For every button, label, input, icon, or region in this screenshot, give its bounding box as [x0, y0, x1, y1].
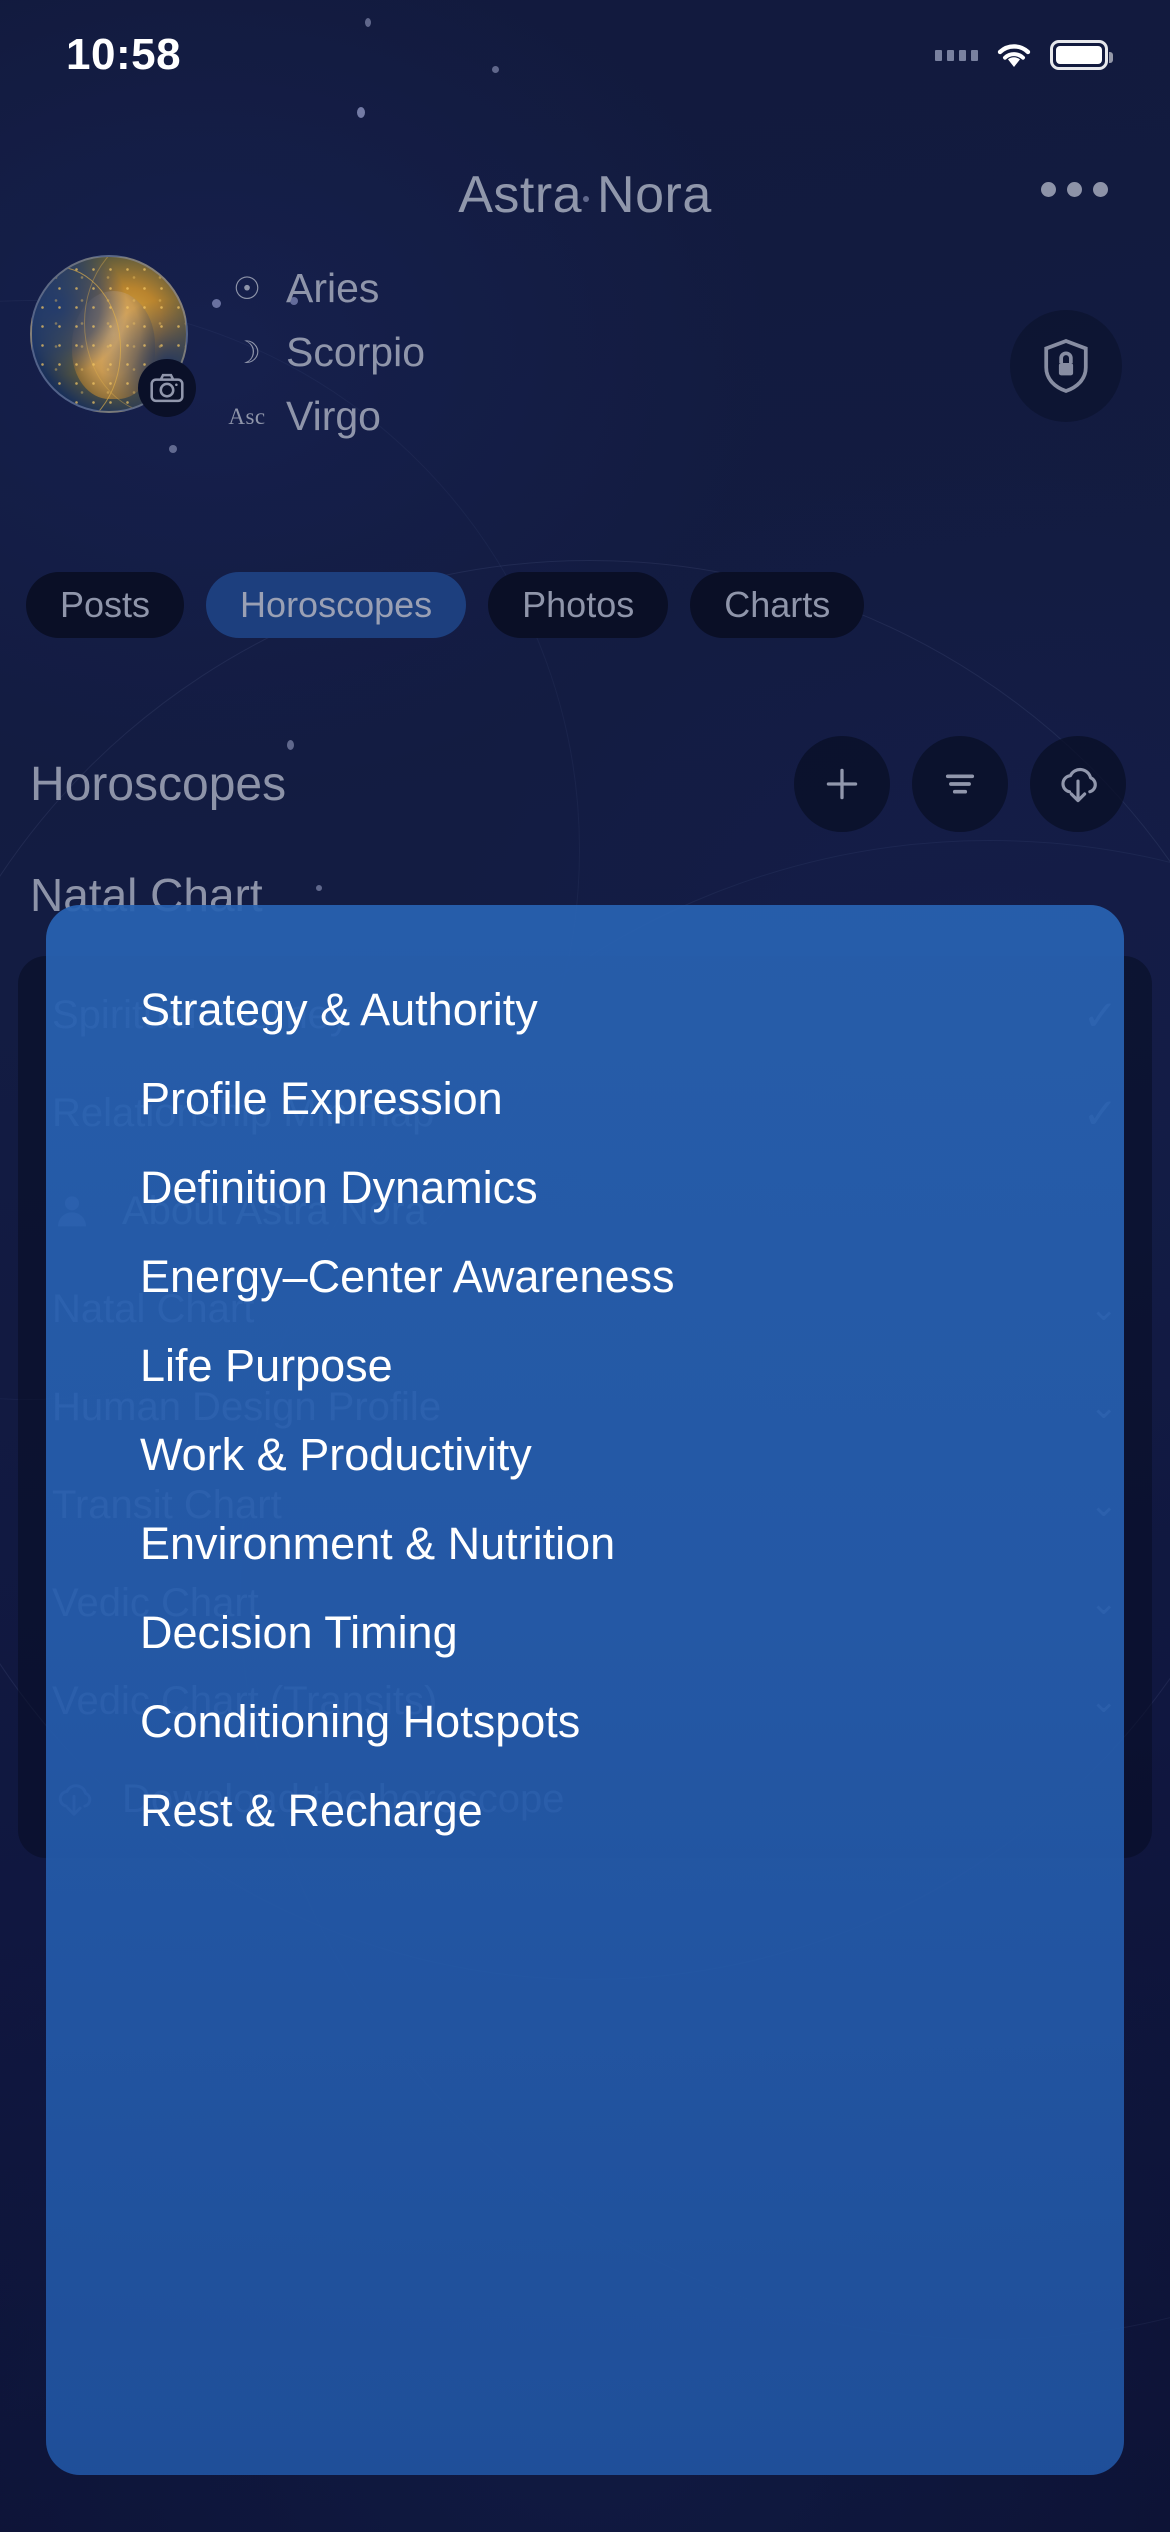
menu-item-life-purpose[interactable]: Life Purpose: [140, 1340, 393, 1392]
menu-item-rest-recharge[interactable]: Rest & Recharge: [140, 1785, 483, 1837]
status-time: 10:58: [66, 30, 181, 80]
wifi-icon: [994, 40, 1034, 70]
section-title: Horoscopes: [30, 757, 772, 812]
tab-charts[interactable]: Charts: [690, 572, 864, 638]
privacy-button[interactable]: [1010, 310, 1122, 422]
menu-item-conditioning-hotspots[interactable]: Conditioning Hotspots: [140, 1696, 580, 1748]
status-bar: 10:58: [0, 0, 1170, 110]
menu-item-decision-timing[interactable]: Decision Timing: [140, 1607, 458, 1659]
moon-icon: ☽: [230, 335, 264, 369]
menu-item-definition-dynamics[interactable]: Definition Dynamics: [140, 1162, 538, 1214]
sign-row-sun: ☉ Aries: [230, 263, 425, 313]
more-options-button[interactable]: [1035, 168, 1114, 211]
sign-row-moon: ☽ Scorpio: [230, 327, 425, 377]
page-title: Astra Nora: [458, 165, 712, 225]
camera-icon[interactable]: [138, 359, 196, 417]
tab-horoscopes[interactable]: Horoscopes: [206, 572, 466, 638]
horoscope-type-menu[interactable]: Strategy & Authority Profile Expression …: [46, 905, 1124, 2475]
sign-label-ascendant: Virgo: [286, 393, 381, 440]
app-screen: 10:58 Astra Nora: [0, 0, 1170, 2532]
battery-icon: [1050, 40, 1108, 70]
menu-item-work-productivity[interactable]: Work & Productivity: [140, 1429, 532, 1481]
profile-summary: ☉ Aries ☽ Scorpio Asc Virgo: [0, 255, 1170, 445]
avatar-wrapper[interactable]: [30, 255, 188, 413]
app-header: Astra Nora: [0, 140, 1170, 250]
section-header: Horoscopes: [0, 726, 1170, 842]
menu-item-energy-center-awareness[interactable]: Energy–Center Awareness: [140, 1251, 675, 1303]
menu-item-environment-nutrition[interactable]: Environment & Nutrition: [140, 1518, 615, 1570]
sun-icon: ☉: [230, 271, 264, 305]
menu-item-profile-expression[interactable]: Profile Expression: [140, 1073, 503, 1125]
star-decor: [169, 445, 177, 453]
status-icons: [935, 40, 1108, 70]
tab-posts[interactable]: Posts: [26, 572, 184, 638]
download-button[interactable]: [1030, 736, 1126, 832]
cellular-dots-icon: [935, 50, 978, 61]
tab-photos[interactable]: Photos: [488, 572, 668, 638]
sign-row-ascendant: Asc Virgo: [230, 391, 425, 441]
add-horoscope-button[interactable]: [794, 736, 890, 832]
dot: [1067, 182, 1082, 197]
sort-button[interactable]: [912, 736, 1008, 832]
menu-item-strategy-authority[interactable]: Strategy & Authority: [140, 984, 538, 1036]
zodiac-signs: ☉ Aries ☽ Scorpio Asc Virgo: [230, 255, 425, 441]
sign-label-moon: Scorpio: [286, 329, 425, 376]
sign-label-sun: Aries: [286, 265, 379, 312]
ascendant-icon: Asc: [230, 399, 264, 433]
dot: [1093, 182, 1108, 197]
dot: [1041, 182, 1056, 197]
profile-tabs: Posts Horoscopes Photos Charts: [0, 572, 1170, 638]
